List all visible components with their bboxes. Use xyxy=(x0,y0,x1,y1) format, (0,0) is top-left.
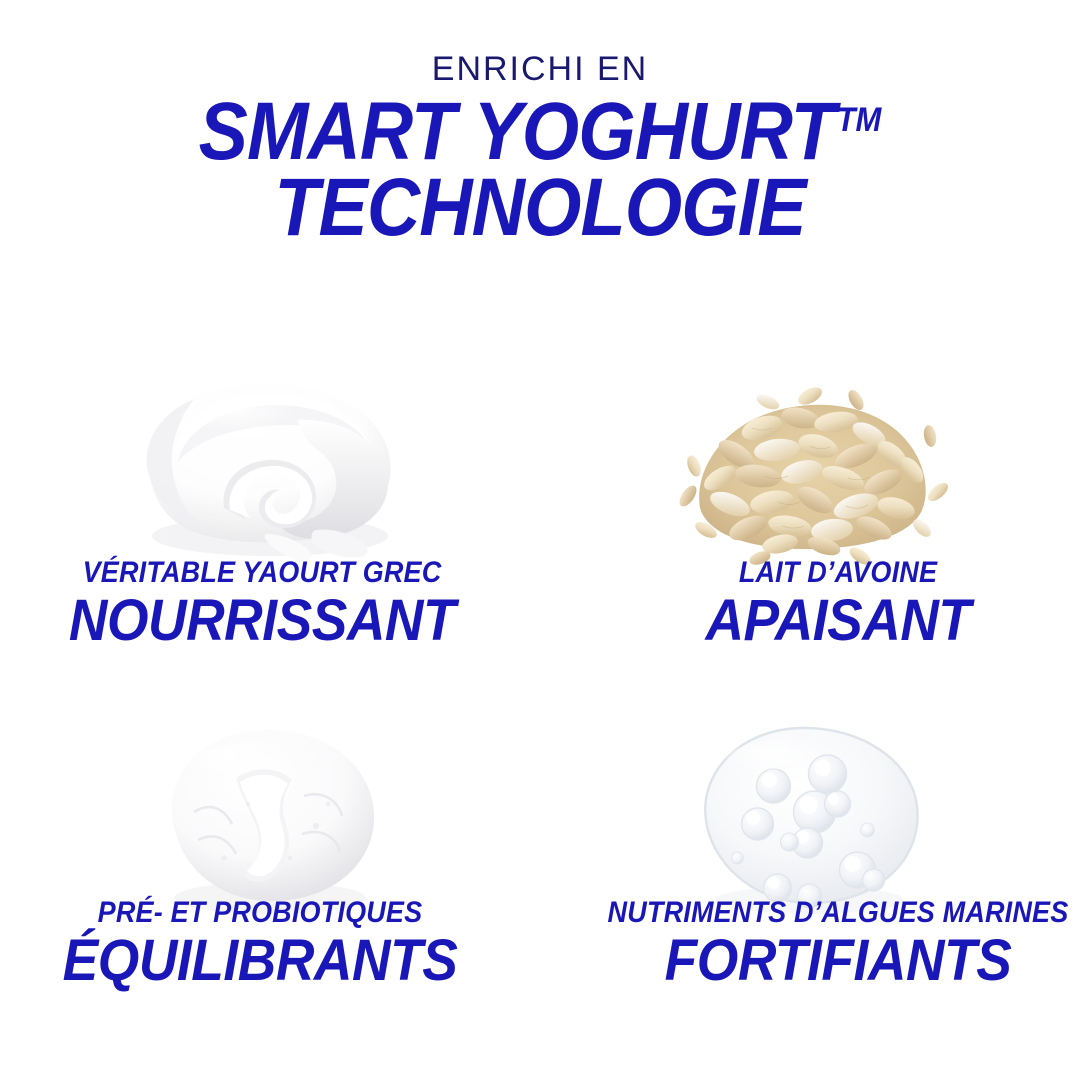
benefit-caption-marine-algae: NUTRIMENTS D’ALGUES MARINES FORTIFIANTS xyxy=(568,898,1080,990)
cream-blob-image xyxy=(140,708,400,923)
ingredient-label-greek-yoghurt: VÉRITABLE YAOURT GREC xyxy=(19,558,505,588)
benefit-card-oat-milk: LAIT D’AVOINE APAISANT xyxy=(540,350,1080,710)
benefit-card-pre-probiotics: PRÉ- ET PROBIOTIQUES ÉQUILIBRANTS xyxy=(0,700,540,1060)
benefit-label-oat-milk: APAISANT xyxy=(590,592,1080,650)
benefit-label-pre-probiotics: ÉQUILIBRANTS xyxy=(12,932,509,990)
ingredient-label-oat-milk: LAIT D’AVOINE xyxy=(595,558,1080,588)
ingredient-label-marine-algae: NUTRIMENTS D’ALGUES MARINES xyxy=(595,898,1080,928)
benefit-card-marine-algae: NUTRIMENTS D’ALGUES MARINES FORTIFIANTS xyxy=(540,700,1080,1060)
benefit-caption-greek-yoghurt: VÉRITABLE YAOURT GREC NOURRISSANT xyxy=(0,558,532,650)
product-benefits-poster: ENRICHI EN SMART YOGHURTTM TECHNOLOGIE xyxy=(0,0,1080,1080)
benefit-label-greek-yoghurt: NOURRISSANT xyxy=(14,592,511,650)
gel-bubbles-image xyxy=(678,708,943,923)
yoghurt-swirl-image xyxy=(120,358,420,573)
headline-line-2: TECHNOLOGIE xyxy=(54,172,1026,244)
headline-block: ENRICHI EN SMART YOGHURTTM TECHNOLOGIE xyxy=(0,52,1080,244)
headline-line-1: SMART YOGHURTTM xyxy=(54,96,1026,168)
benefit-card-greek-yoghurt: VÉRITABLE YAOURT GREC NOURRISSANT xyxy=(0,350,540,710)
eyebrow-text: ENRICHI EN xyxy=(0,52,1080,86)
benefit-caption-oat-milk: LAIT D’AVOINE APAISANT xyxy=(568,558,1080,650)
benefit-caption-pre-probiotics: PRÉ- ET PROBIOTIQUES ÉQUILIBRANTS xyxy=(0,898,530,990)
oat-flakes-image xyxy=(660,358,960,573)
trademark-symbol: TM xyxy=(837,101,882,139)
benefit-label-marine-algae: FORTIFIANTS xyxy=(590,932,1080,990)
ingredient-label-pre-probiotics: PRÉ- ET PROBIOTIQUES xyxy=(17,898,503,928)
